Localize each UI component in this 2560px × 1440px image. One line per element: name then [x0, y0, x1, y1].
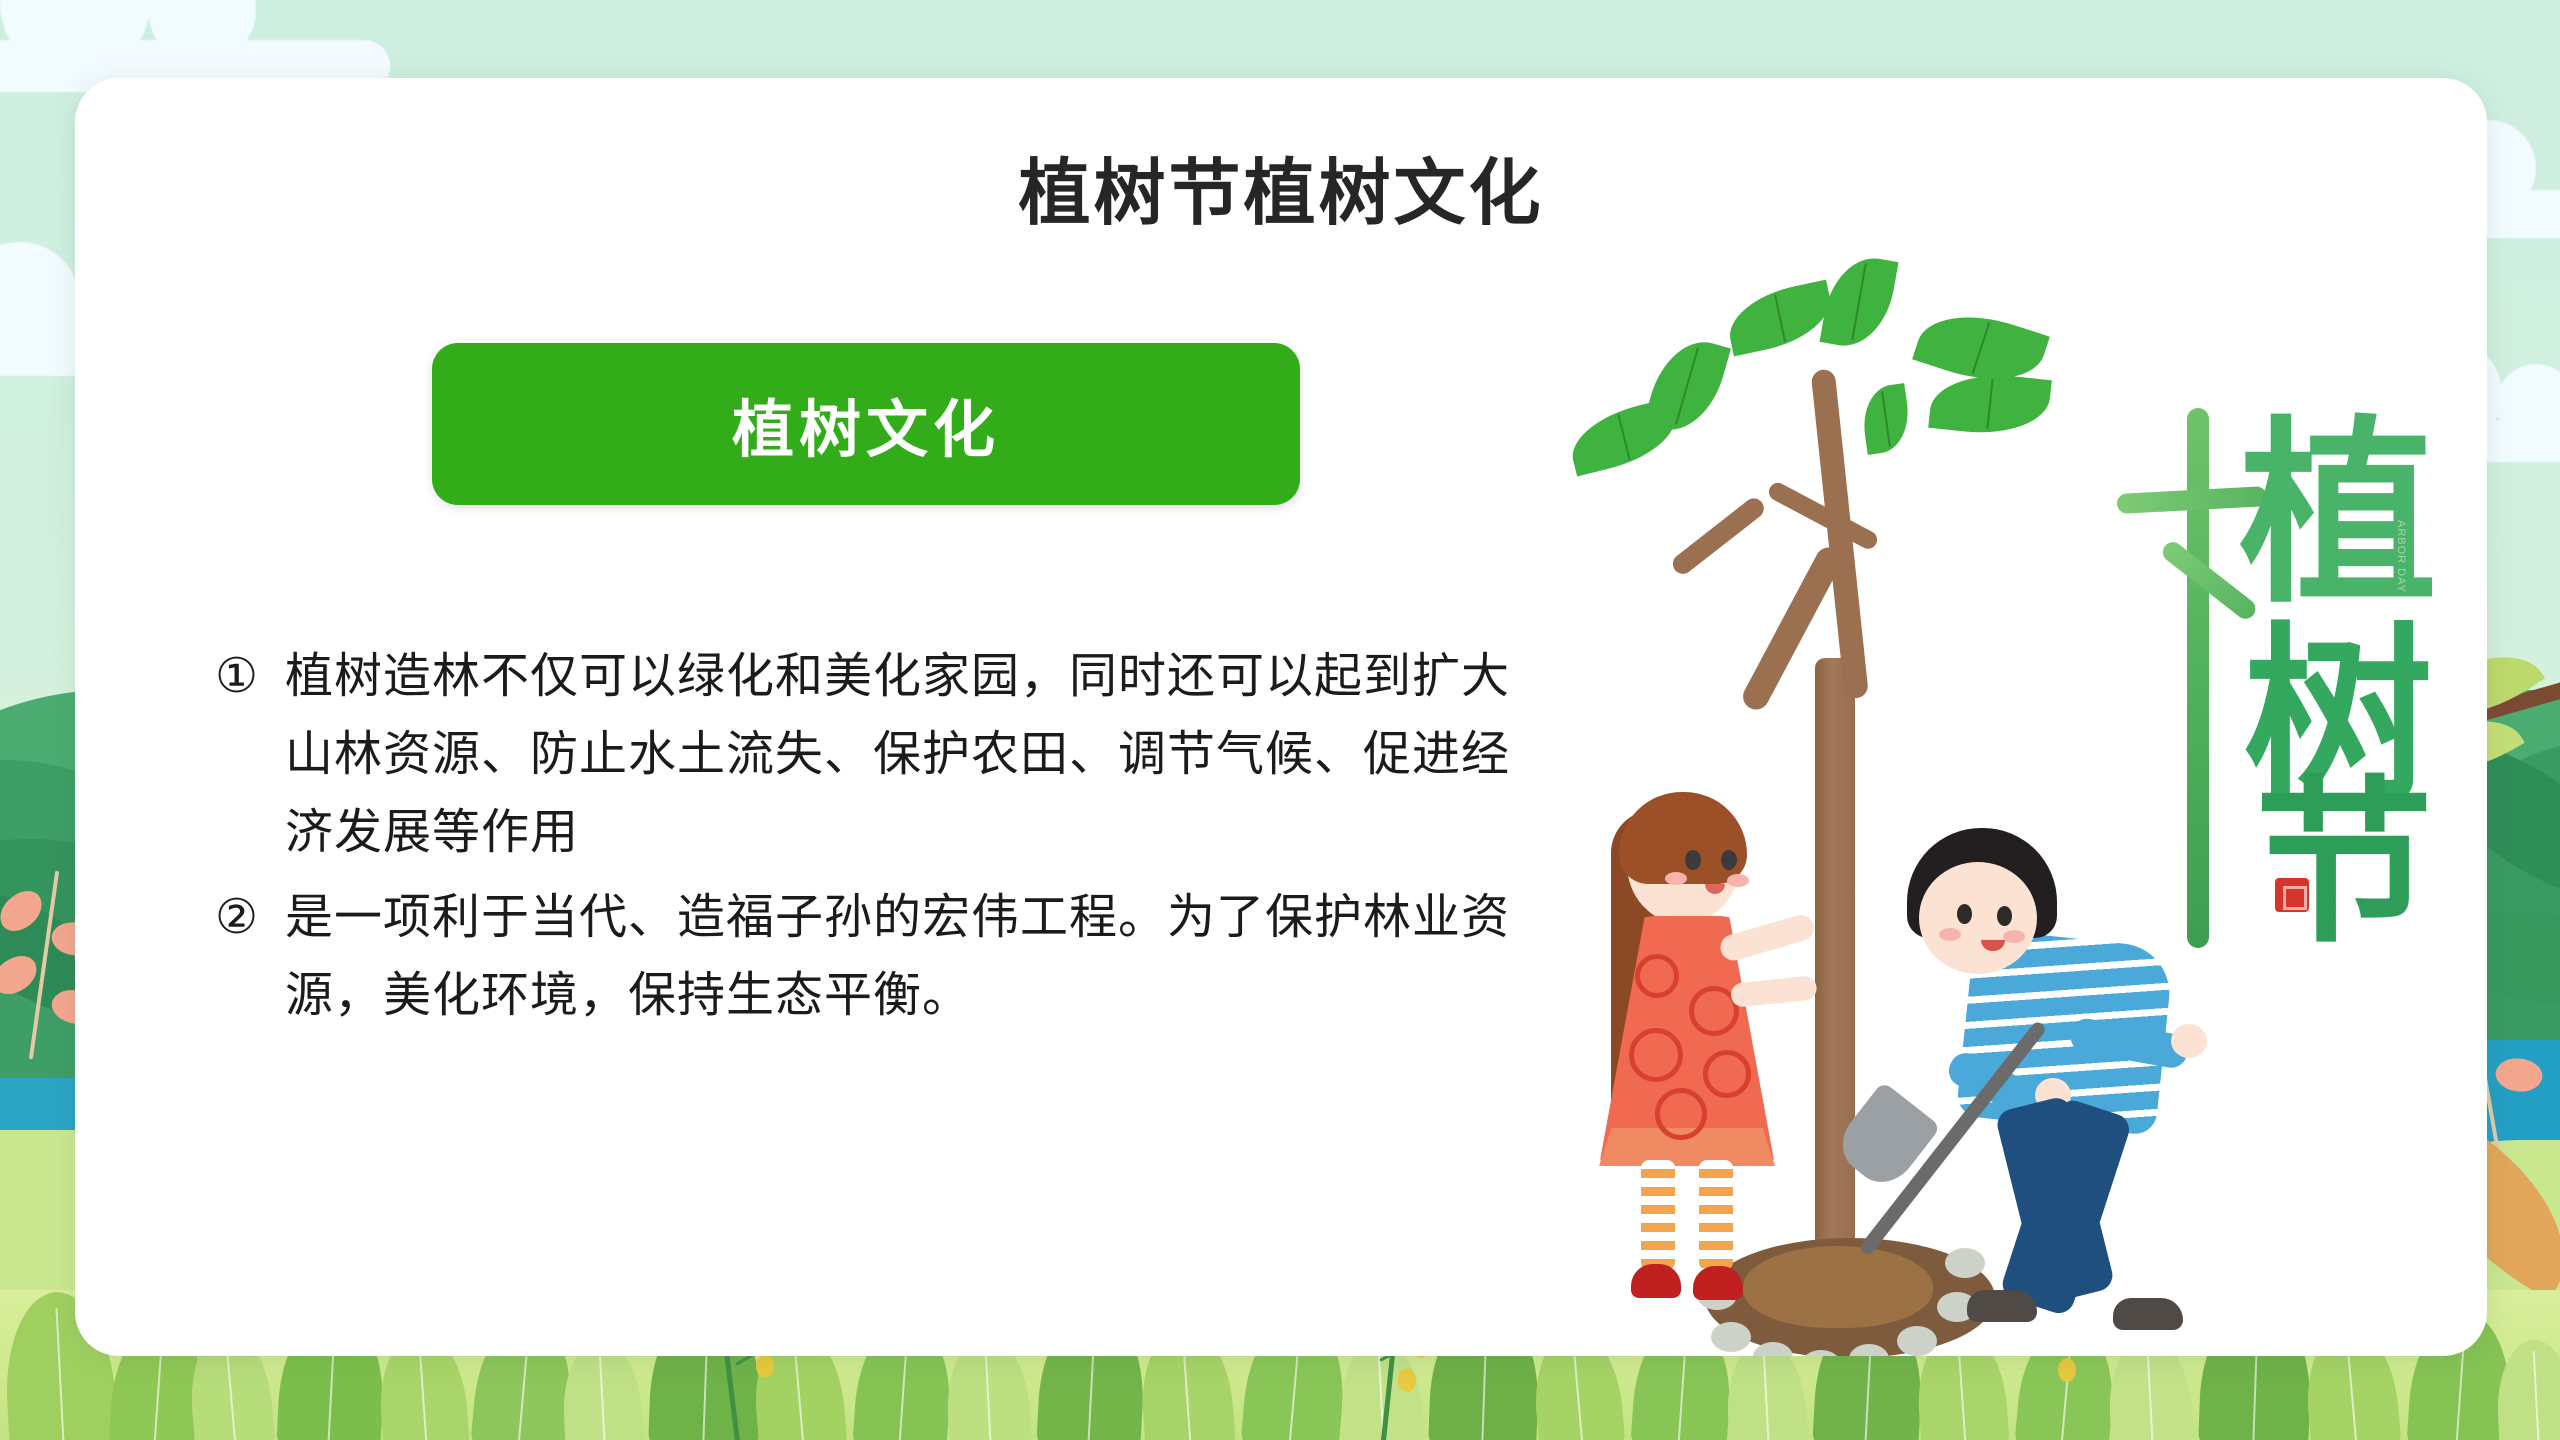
bullet-marker: ②: [215, 879, 285, 957]
section-badge-label: 植树文化: [732, 379, 1000, 469]
calligraphy-char-1: 植: [2239, 418, 2437, 616]
bullet-marker: ①: [215, 638, 285, 716]
red-seal-icon: [2275, 878, 2309, 912]
content-card: 植树节植树文化 植树文化 ① 植树造林不仅可以绿化和美化家园，同时还可以起到扩大…: [75, 78, 2487, 1356]
bullet-text: 植树造林不仅可以绿化和美化家园，同时还可以起到扩大山林资源、防止水土流失、保护农…: [285, 638, 1545, 871]
bullet-text: 是一项利于当代、造福子孙的宏伟工程。为了保护林业资源，美化环境，保持生态平衡。: [285, 879, 1545, 1035]
girl-figure: [1593, 788, 1813, 1348]
slide-canvas: 植树节植树文化 植树文化 ① 植树造林不仅可以绿化和美化家园，同时还可以起到扩大…: [0, 0, 2560, 1440]
calligraphy-small-mark: ARBOR DAY: [2395, 520, 2407, 593]
tree-planting-illustration: [1515, 228, 2215, 1318]
list-item: ① 植树造林不仅可以绿化和美化家园，同时还可以起到扩大山林资源、防止水土流失、保…: [215, 638, 1545, 871]
bullet-list: ① 植树造林不仅可以绿化和美化家园，同时还可以起到扩大山林资源、防止水土流失、保…: [215, 638, 1545, 1043]
calligraphy-logo: 植 树 节 ARBOR DAY: [2147, 408, 2487, 968]
section-badge[interactable]: 植树文化: [432, 343, 1300, 505]
page-title: 植树节植树文化: [75, 134, 2487, 239]
calligraphy-char-3: 节: [2255, 776, 2433, 954]
list-item: ② 是一项利于当代、造福子孙的宏伟工程。为了保护林业资源，美化环境，保持生态平衡…: [215, 879, 1545, 1035]
